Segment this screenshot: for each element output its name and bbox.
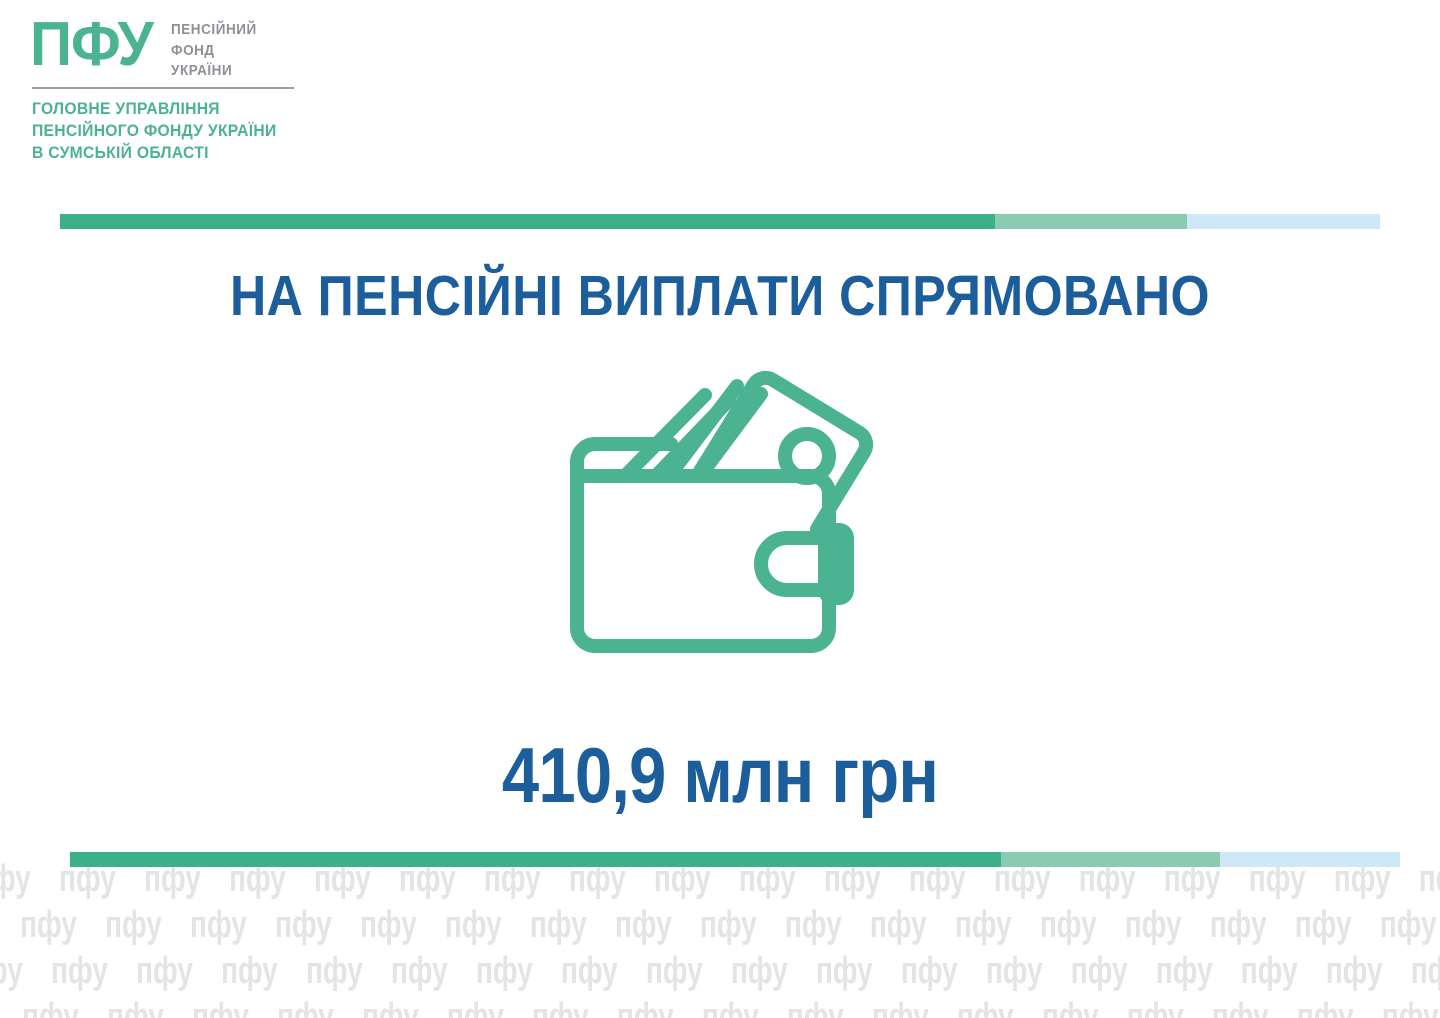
watermark-word: пфу <box>190 906 247 944</box>
watermark-word: пфу <box>1210 906 1267 944</box>
watermark-word: пфу <box>1380 906 1437 944</box>
page-title: НА ПЕНСІЙНІ ВИПЛАТИ СПРЯМОВАНО <box>86 268 1353 325</box>
logo-dept-line-2: ПЕНСІЙНОГО ФОНДУ УКРАЇНИ <box>32 120 315 142</box>
watermark-word: пфу <box>476 952 533 990</box>
watermark-word: пфу <box>870 906 927 944</box>
watermark-word: пфу <box>1326 952 1383 990</box>
watermark-row: пфупфупфупфупфупфупфупфупфупфупфупфупфуп… <box>0 952 1440 990</box>
watermark-word: пфу <box>872 998 929 1018</box>
watermark-word: пфу <box>20 906 77 944</box>
watermark-word: пфу <box>702 998 759 1018</box>
watermark-word: пфу <box>107 998 164 1018</box>
watermark-word: пфу <box>1411 952 1440 990</box>
watermark-word: пфу <box>0 952 23 990</box>
pfu-wordmark: ПФУ <box>30 16 153 73</box>
rule-segment-green <box>60 214 995 229</box>
wallet-icon-graphic <box>553 352 887 670</box>
watermark-word: пфу <box>1127 998 1184 1018</box>
watermark-word: пфу <box>105 906 162 944</box>
watermark-word: пфу <box>447 998 504 1018</box>
watermark-word: пфу <box>1241 952 1298 990</box>
watermark-word: пфу <box>617 998 674 1018</box>
watermark-word: пфу <box>360 906 417 944</box>
wallet-with-cards-icon <box>553 352 887 670</box>
watermark-word: пфу <box>1297 998 1354 1018</box>
logo-dept-line-3: В СУМСЬКІЙ ОБЛАСТІ <box>32 142 315 164</box>
watermark-word: пфу <box>362 998 419 1018</box>
logo-primary: ПФУ ПЕНСІЙНИЙ ФОНД УКРАЇНИ <box>30 14 330 82</box>
pfu-logo-block: ПФУ ПЕНСІЙНИЙ ФОНД УКРАЇНИ ГОЛОВНЕ УПРАВ… <box>30 14 330 164</box>
watermark-word: пфу <box>532 998 589 1018</box>
watermark-word: пфу <box>1295 906 1352 944</box>
watermark-word: пфу <box>1382 998 1439 1018</box>
watermark-word: пфу <box>700 906 757 944</box>
watermark-word: пфу <box>615 906 672 944</box>
watermark-pattern: пфупфупфупфупфупфупфупфупфупфупфупфупфуп… <box>0 848 1440 1018</box>
watermark-word: пфу <box>192 998 249 1018</box>
logo-divider-line <box>32 87 294 89</box>
watermark-word: пфу <box>955 906 1012 944</box>
amount-value: 410,9 млн грн <box>101 736 1339 814</box>
rule-segment-green-light <box>1001 852 1220 867</box>
wallet-body <box>577 476 829 646</box>
watermark-word: пфу <box>1212 998 1269 1018</box>
watermark-word: пфу <box>1125 906 1182 944</box>
watermark-word: пфу <box>731 952 788 990</box>
watermark-row: пфупфупфупфупфупфупфупфупфупфупфупфупфуп… <box>22 998 1440 1018</box>
watermark-word: пфу <box>277 998 334 1018</box>
watermark-word: пфу <box>22 998 79 1018</box>
watermark-word: пфу <box>221 952 278 990</box>
watermark-row: пфупфупфупфупфупфупфупфупфупфупфупфупфуп… <box>20 906 1440 944</box>
bottom-accent-rule <box>70 852 1400 867</box>
watermark-word: пфу <box>816 952 873 990</box>
watermark-word: пфу <box>1419 860 1440 898</box>
logo-org-line-3: УКРАЇНИ <box>171 61 257 82</box>
logo-org-line-1: ПЕНСІЙНИЙ <box>171 20 257 41</box>
watermark-word: пфу <box>785 906 842 944</box>
watermark-word: пфу <box>986 952 1043 990</box>
rule-segment-blue <box>1187 214 1380 229</box>
top-accent-rule <box>60 214 1380 229</box>
rule-segment-green <box>70 852 1001 867</box>
logo-organisation-name: ПЕНСІЙНИЙ ФОНД УКРАЇНИ <box>171 20 257 82</box>
watermark-word: пфу <box>0 860 31 898</box>
watermark-word: пфу <box>561 952 618 990</box>
rule-segment-green-light <box>995 214 1188 229</box>
watermark-word: пфу <box>136 952 193 990</box>
watermark-word: пфу <box>51 952 108 990</box>
logo-org-line-2: ФОНД <box>171 41 257 62</box>
logo-department-name: ГОЛОВНЕ УПРАВЛІННЯ ПЕНСІЙНОГО ФОНДУ УКРА… <box>32 98 315 164</box>
watermark-word: пфу <box>957 998 1014 1018</box>
watermark-word: пфу <box>445 906 502 944</box>
rule-segment-blue <box>1220 852 1400 867</box>
watermark-word: пфу <box>306 952 363 990</box>
watermark-word: пфу <box>1071 952 1128 990</box>
watermark-word: пфу <box>275 906 332 944</box>
watermark-word: пфу <box>530 906 587 944</box>
watermark-word: пфу <box>391 952 448 990</box>
watermark-word: пфу <box>1040 906 1097 944</box>
logo-dept-line-1: ГОЛОВНЕ УПРАВЛІННЯ <box>32 98 315 120</box>
watermark-word: пфу <box>901 952 958 990</box>
watermark-word: пфу <box>1156 952 1213 990</box>
watermark-word: пфу <box>787 998 844 1018</box>
watermark-word: пфу <box>1042 998 1099 1018</box>
infographic-page: пфупфупфупфупфупфупфупфупфупфупфупфупфуп… <box>0 0 1440 1018</box>
watermark-word: пфу <box>646 952 703 990</box>
